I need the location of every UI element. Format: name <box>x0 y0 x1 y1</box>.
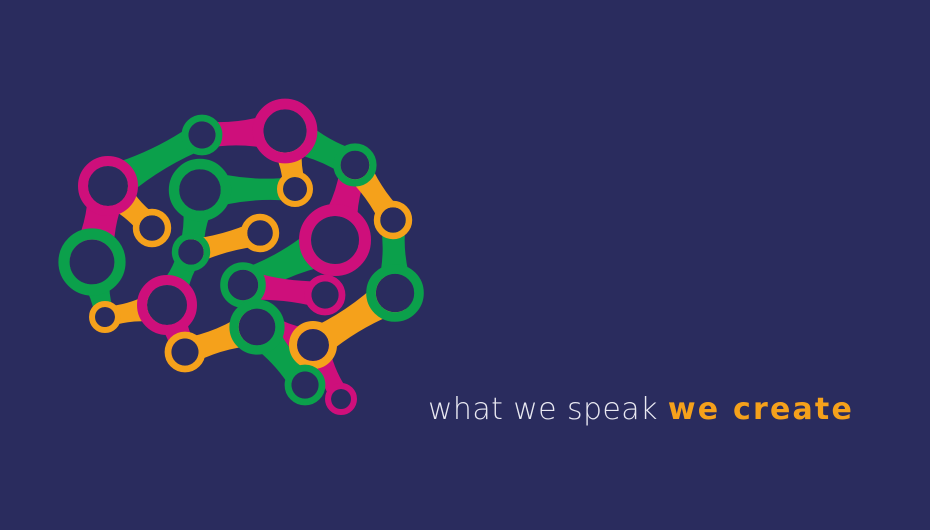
logo-node-hole <box>70 240 115 285</box>
brain-network-logo <box>55 95 435 435</box>
logo-node-hole <box>283 177 307 201</box>
tagline: what we speakwe create <box>428 390 854 430</box>
logo-node-hole <box>188 121 215 148</box>
splash-canvas: what we speakwe create <box>0 0 930 530</box>
logo-node-hole <box>247 220 273 246</box>
logo-node-hole <box>263 109 306 152</box>
logo-node-hole <box>178 239 204 265</box>
logo-node-hole <box>88 166 128 206</box>
logo-node-hole <box>331 389 351 409</box>
tagline-light-text: what we speak <box>428 392 658 427</box>
logo-node-hole <box>297 329 329 361</box>
logo-node-hole <box>376 274 414 312</box>
logo-node-hole <box>228 270 258 300</box>
logo-node-hole <box>291 371 318 398</box>
logo-node-hole <box>139 215 165 241</box>
logo-node-hole <box>179 169 221 211</box>
logo-node-hole <box>311 216 359 264</box>
tagline-accent-text: we create <box>668 392 854 427</box>
logo-node-hole <box>311 281 338 308</box>
logo-node-hole <box>341 151 370 180</box>
logo-node-hole <box>95 307 115 327</box>
logo-node-hole <box>239 309 276 346</box>
brain-logo-icon <box>55 95 435 435</box>
logo-node-hole <box>147 285 187 325</box>
logo-node-layer <box>64 104 419 412</box>
logo-node-hole <box>171 338 198 365</box>
logo-node-hole <box>380 207 406 233</box>
